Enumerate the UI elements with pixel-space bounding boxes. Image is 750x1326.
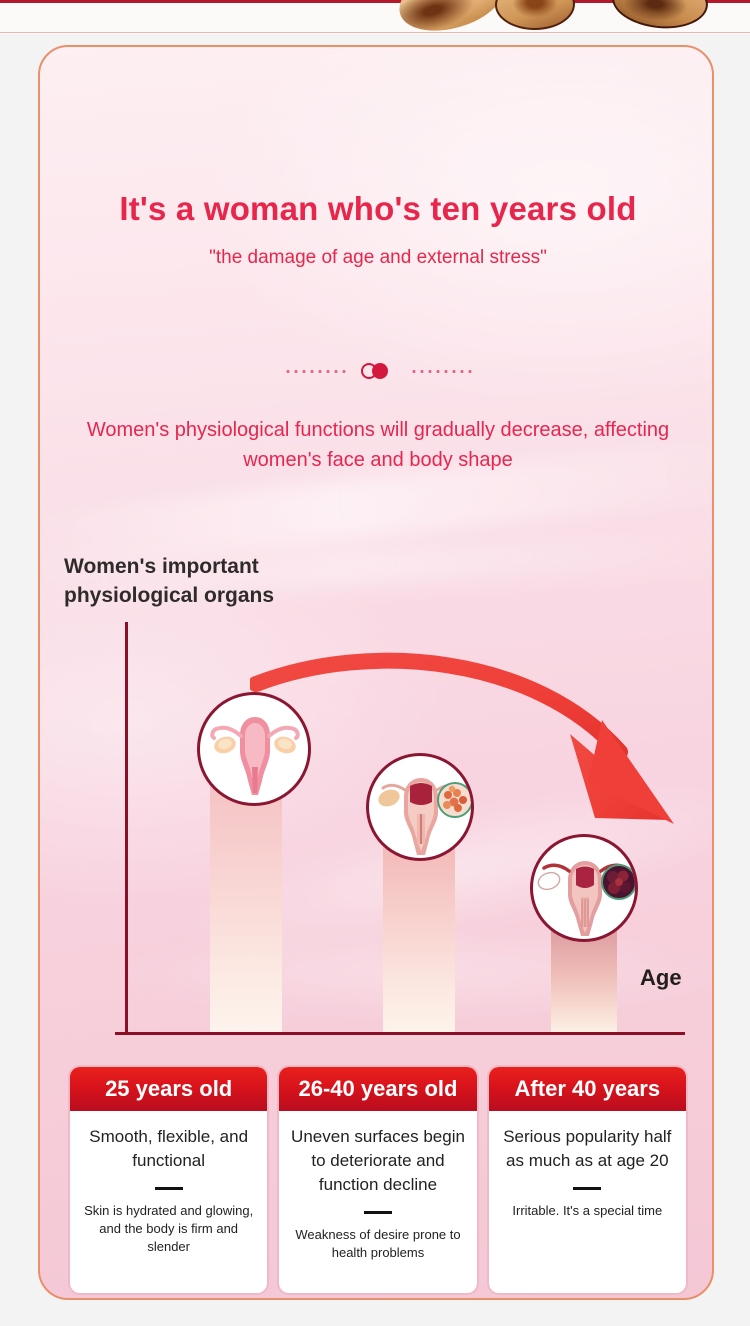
chart-y-axis-line [125,622,128,1034]
dotted-line-left [284,370,346,373]
main-panel: It's a woman who's ten years old "the da… [38,45,714,1300]
lead-paragraph: Women's physiological functions will gra… [58,415,698,475]
divider-circles [360,362,396,380]
dotted-line-right [410,370,472,373]
card-divider [573,1187,601,1190]
declining-arrow-icon [250,642,710,842]
page-title: It's a woman who's ten years old [40,187,714,231]
card-secondary-text: Weakness of desire prone to health probl… [287,1226,468,1262]
card-heading: 26-40 years old [279,1067,476,1111]
heading-block: It's a woman who's ten years old "the da… [40,187,714,269]
chart-x-axis-line [115,1032,685,1035]
top-pink-rule [0,32,750,33]
product-detail-page: It's a woman who's ten years old "the da… [0,0,750,1326]
card-heading: After 40 years [489,1067,686,1111]
card-divider [364,1211,392,1214]
card-body: Smooth, flexible, and functional Skin is… [70,1111,267,1293]
lesion-uterus-illustration [530,834,638,942]
page-subtitle: "the damage of age and external stress" [40,247,714,269]
card-secondary-text: Irritable. It's a special time [512,1202,662,1220]
circle-filled-icon [372,363,388,379]
age-stage-cards: 25 years old Smooth, flexible, and funct… [68,1065,688,1295]
food-slice-icon [392,0,512,34]
chart-y-axis-title: Women's important physiological organs [64,552,394,610]
card-primary-text: Smooth, flexible, and functional [78,1125,259,1173]
card-heading: 25 years old [70,1067,267,1111]
card-primary-text: Uneven surfaces begin to deteriorate and… [287,1125,468,1197]
card-after-40-years[interactable]: After 40 years Serious popularity half a… [487,1065,688,1295]
top-food-image-strip [0,0,750,34]
card-body: Uneven surfaces begin to deteriorate and… [279,1111,476,1293]
food-cap-icon [610,0,711,33]
chart-x-axis-label: Age [640,965,682,991]
card-divider [155,1187,183,1190]
divider-ornament [40,362,714,380]
card-primary-text: Serious popularity half as much as at ag… [497,1125,678,1173]
food-round-icon [495,0,575,30]
card-25-years[interactable]: 25 years old Smooth, flexible, and funct… [68,1065,269,1295]
card-26-40-years[interactable]: 26-40 years old Uneven surfaces begin to… [277,1065,478,1295]
card-secondary-text: Skin is hydrated and glowing, and the bo… [78,1202,259,1256]
card-body: Serious popularity half as much as at ag… [489,1111,686,1293]
